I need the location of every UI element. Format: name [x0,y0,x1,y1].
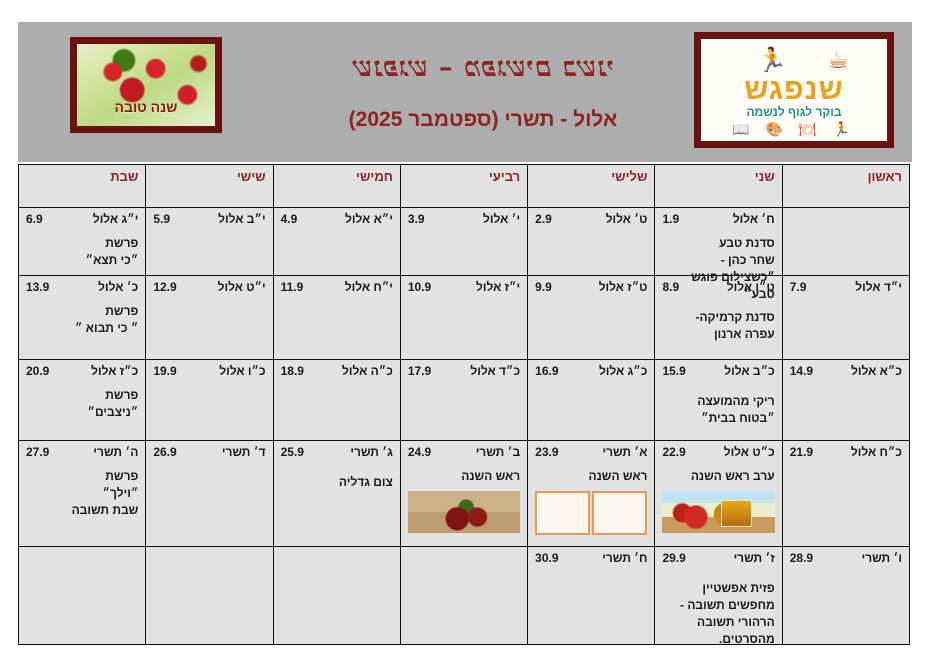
day-event-note-line: פרשת [26,387,138,404]
calendar-header-row: ראשון שני שלישי רביעי חמישי שישי שבת [19,165,910,208]
day-header-sunday: ראשון [782,165,909,208]
calendar-day-cell[interactable]: י״ז אלול10.9 [400,276,527,360]
day-date-line: כ״ז אלול20.9 [26,364,138,378]
day-date-line: י״ז אלול10.9 [408,280,520,294]
day-event-note-line: ראש השנה [408,468,520,485]
calendar-day-cell[interactable]: כ״ג אלול16.9 [528,360,655,441]
gregorian-date: 29.9 [662,551,685,565]
hebrew-date: ב׳ תשרי [476,445,520,459]
day-event-note-line: פזית אפשטיין [662,580,774,597]
day-event-note-line: סדנת טבע [662,235,774,252]
calendar-week-row: ו׳ תשרי28.9ז׳ תשרי29.9פזית אפשטייןמחפשים… [19,547,910,645]
runner-icon: 🏃 [757,49,787,73]
day-date-line: כ״ח אלול21.9 [790,445,902,459]
pomegranates-wood-image [408,491,520,533]
day-date-line: ז׳ תשרי29.9 [662,551,774,565]
shana-tova-caption: שנה טובה [77,99,215,115]
hebrew-date: י״ז אלול [476,280,520,294]
gregorian-date: 27.9 [26,445,49,459]
gregorian-date: 30.9 [535,551,558,565]
day-cell-content: כ״ה אלול18.9 [281,364,393,437]
day-event-note-line: מחפשים תשובה - [662,597,774,614]
gregorian-date: 21.9 [790,445,813,459]
dates-pomegranate-duo-image [535,491,647,535]
hebrew-date: כ״ד אלול [470,364,520,378]
day-cell-content: י״ט אלול12.9 [153,280,265,356]
day-date-line: כ״ד אלול17.9 [408,364,520,378]
hebrew-date: ח׳ אלול [733,212,775,226]
calendar-day-cell[interactable]: כ׳ אלול13.9פרשת״ כי תבוא ״ [19,276,146,360]
day-header-monday: שני [655,165,782,208]
hebrew-date: י״ט אלול [218,280,266,294]
calendar-day-cell[interactable]: ט״ו אלול8.9סדנת קרמיקה-עפרה ארנון [655,276,782,360]
day-event-note-line: עפרה ארנון [662,326,774,343]
calendar-day-cell[interactable] [19,547,146,645]
calendar-body: ח׳ אלול1.9סדנת טבעשחר כהן -״כשצילום פוגש… [19,208,910,645]
day-event-note: פרשת״ כי תבוא ״ [26,303,138,337]
day-header-wednesday: רביעי [400,165,527,208]
calendar-day-cell[interactable]: כ״ב אלול15.9ריקי מהמועצה״בטוח בבית״ [655,360,782,441]
gregorian-date: 18.9 [281,364,304,378]
day-cell-content: ט״ז אלול9.9 [535,280,647,356]
hebrew-date: ד׳ תשרי [222,445,266,459]
day-date-line: ו׳ תשרי28.9 [790,551,902,565]
calendar-day-cell[interactable]: כ״ז אלול20.9פרשת״ניצבים״ [19,360,146,441]
day-event-note-line: צום גדליה [281,474,393,491]
day-event-note-line: מהסרטים. [662,631,774,648]
day-cell-content: ח׳ תשרי30.9 [535,551,647,641]
day-header-thursday: חמישי [273,165,400,208]
gregorian-date: 15.9 [662,364,685,378]
hebrew-date: ג׳ תשרי [350,445,393,459]
logo-tagline: בוקר לגוף לנשמה [701,105,887,119]
gregorian-date: 3.9 [408,212,425,226]
day-date-line: כ״ה אלול18.9 [281,364,393,378]
day-event-note-line: פרשת [26,303,138,320]
day-cell-content: כ״ב אלול15.9ריקי מהמועצה״בטוח בבית״ [662,364,774,437]
pomegranate-image [535,491,590,535]
honey-apples-image [662,491,774,533]
day-cell-content [153,551,265,641]
gregorian-date: 1.9 [662,212,679,226]
logo-activity-icons: 🏃 🍽 🎨 📖 [701,121,887,138]
day-event-note-line: שבת תשובה [26,502,138,519]
day-cell-content: י״ז אלול10.9 [408,280,520,356]
hebrew-date: ט״ו אלול [727,280,775,294]
calendar-day-cell[interactable]: כ״ד אלול17.9 [400,360,527,441]
calendar-day-cell[interactable]: א׳ תשרי23.9ראש השנה [528,441,655,547]
gregorian-date: 13.9 [26,280,49,294]
book-icon: 📖 [732,121,755,138]
hebrew-date: ט׳ אלול [606,212,648,226]
shenifgash-logo: 🏃 ☕ שנפגש בוקר לגוף לנשמה 🏃 🍽 🎨 📖 [701,39,887,141]
calendar-day-cell[interactable] [273,547,400,645]
shana-tova-image-frame: שנה טובה [70,37,222,133]
day-cell-content: י״א אלול4.9 [281,212,393,272]
hebrew-date: כ״ג אלול [599,364,648,378]
day-cell-content: כ׳ אלול13.9פרשת״ כי תבוא ״ [26,280,138,356]
hebrew-date: ח׳ תשרי [602,551,647,565]
hebrew-date: כ״ה אלול [342,364,393,378]
day-cell-content [281,551,393,641]
day-date-line: כ״ט אלול22.9 [662,445,774,459]
gregorian-date: 9.9 [535,280,552,294]
day-event-note: פרשת״וילך״שבת תשובה [26,468,138,519]
day-date-line: ט׳ אלול2.9 [535,212,647,226]
day-date-line: ט״ז אלול9.9 [535,280,647,294]
day-cell-content: ט״ו אלול8.9סדנת קרמיקה-עפרה ארנון [662,280,774,356]
day-cell-content [408,551,520,641]
gregorian-date: 26.9 [153,445,176,459]
gregorian-date: 4.9 [281,212,298,226]
logo-wordmark: שנפגש [701,73,887,107]
calendar-week-row: י״ד אלול7.9ט״ו אלול8.9סדנת קרמיקה-עפרה א… [19,276,910,360]
calendar-day-cell[interactable]: ה׳ תשרי27.9פרשת״וילך״שבת תשובה [19,441,146,547]
calendar-day-cell[interactable]: י״ח אלול11.9 [273,276,400,360]
hebrew-date: כ״ז אלול [91,364,138,378]
day-cell-content: ג׳ תשרי25.9צום גדליה [281,445,393,543]
day-date-line: כ״ג אלול16.9 [535,364,647,378]
day-date-line: י״ט אלול12.9 [153,280,265,294]
day-date-line: ט״ו אלול8.9 [662,280,774,294]
calendar-day-cell[interactable]: כ״ה אלול18.9 [273,360,400,441]
day-date-line: ג׳ תשרי25.9 [281,445,393,459]
day-event-note-line: ערב ראש השנה [662,468,774,485]
day-event-note: פזית אפשטייןמחפשים תשובה -הרהורי תשובהמה… [662,580,774,648]
hebrew-date: י״א אלול [345,212,393,226]
day-event-note-line: פרשת [26,235,138,252]
day-cell-content: י׳ אלול3.9 [408,212,520,272]
day-date-line: י׳ אלול3.9 [408,212,520,226]
day-cell-content [26,551,138,641]
day-cell-content: ט׳ אלול2.9 [535,212,647,272]
calendar-day-cell[interactable] [146,547,273,645]
calendar-day-cell[interactable] [400,547,527,645]
calendar-week-row: כ״ח אלול21.9כ״ט אלול22.9ערב ראש השנהא׳ ת… [19,441,910,547]
calendar-page: שנה טובה שנפגש – מפגשים בשני אלול - תשרי… [0,0,949,666]
coffee-cup-icon: ☕ [827,49,849,73]
day-cell-content: י״ח אלול11.9 [281,280,393,356]
hebrew-date: ז׳ תשרי [734,551,775,565]
gregorian-date: 22.9 [662,445,685,459]
calendar-day-cell[interactable]: ב׳ תשרי24.9ראש השנה [400,441,527,547]
gregorian-date: 5.9 [153,212,170,226]
day-date-line: י״ד אלול7.9 [790,280,902,294]
logo-frame: 🏃 ☕ שנפגש בוקר לגוף לנשמה 🏃 🍽 🎨 📖 [694,32,894,148]
hebrew-date: י״ג אלול [93,212,138,226]
header-banner: שנה טובה שנפגש – מפגשים בשני אלול - תשרי… [18,22,912,162]
hebrew-date: ט״ז אלול [599,280,648,294]
day-date-line: כ׳ אלול13.9 [26,280,138,294]
monthly-calendar-table: ראשון שני שלישי רביעי חמישי שישי שבת ח׳ … [18,164,910,645]
calendar-day-cell[interactable]: ח׳ תשרי30.9 [528,547,655,645]
calendar-day-cell[interactable]: ג׳ תשרי25.9צום גדליה [273,441,400,547]
gregorian-date: 2.9 [535,212,552,226]
hebrew-date: כ״ב אלול [724,364,774,378]
calendar-day-cell[interactable]: כ״ו אלול19.9 [146,360,273,441]
gregorian-date: 19.9 [153,364,176,378]
day-event-note-line: ראש השנה [535,468,647,485]
day-date-line: ד׳ תשרי26.9 [153,445,265,459]
calendar-day-cell[interactable]: ט׳ אלול2.9 [528,208,655,276]
calendar-day-cell[interactable]: ד׳ תשרי26.9 [146,441,273,547]
gregorian-date: 14.9 [790,364,813,378]
hebrew-date: כ״א אלול [851,364,902,378]
day-date-line: ב׳ תשרי24.9 [408,445,520,459]
day-event-note: ריקי מהמועצה״בטוח בבית״ [662,393,774,427]
day-cell-content: י״ד אלול7.9 [790,280,902,356]
day-cell-content [790,212,902,272]
day-event-note: פרשת״ניצבים״ [26,387,138,421]
runner-small-icon: 🏃 [832,121,855,138]
day-date-line: א׳ תשרי23.9 [535,445,647,459]
day-date-line: ח׳ אלול1.9 [662,212,774,226]
hebrew-date: כ״ט אלול [724,445,775,459]
gregorian-date: 17.9 [408,364,431,378]
calendar-day-cell[interactable]: י״ג אלול6.9פרשת״כי תצא״ [19,208,146,276]
day-event-note-line: ״וילך״ [26,485,138,502]
day-header-tuesday: שלישי [528,165,655,208]
page-title: שנפגש – מפגשים בשני [248,52,718,83]
day-cell-content: כ״ז אלול20.9פרשת״ניצבים״ [26,364,138,437]
food-icon: 🍽 [799,121,823,138]
day-date-line: י״ג אלול6.9 [26,212,138,226]
day-event-note: ראש השנה [535,468,647,485]
day-cell-content: כ״א אלול14.9 [790,364,902,437]
day-event-note-line: ״בטוח בבית״ [662,410,774,427]
calendar-day-cell[interactable]: י״ט אלול12.9 [146,276,273,360]
day-cell-content: א׳ תשרי23.9ראש השנה [535,445,647,543]
calendar-day-cell[interactable]: י״ד אלול7.9 [782,276,909,360]
gregorian-date: 6.9 [26,212,43,226]
day-cell-content: כ״ד אלול17.9 [408,364,520,437]
day-cell-content: י״ג אלול6.9פרשת״כי תצא״ [26,212,138,272]
calendar-day-cell[interactable]: ח׳ אלול1.9סדנת טבעשחר כהן -״כשצילום פוגש… [655,208,782,276]
gregorian-date: 16.9 [535,364,558,378]
calendar-day-cell[interactable]: ו׳ תשרי28.9 [782,547,909,645]
hebrew-date: כ׳ אלול [98,280,138,294]
day-cell-content: כ״ו אלול19.9 [153,364,265,437]
day-cell-content: כ״ח אלול21.9 [790,445,902,543]
hebrew-date: כ״ח אלול [851,445,902,459]
gregorian-date: 10.9 [408,280,431,294]
day-date-line: י״ח אלול11.9 [281,280,393,294]
calendar-day-cell[interactable]: י״ב אלול5.9 [146,208,273,276]
calendar-day-cell[interactable]: י׳ אלול3.9 [400,208,527,276]
day-cell-content: כ״ג אלול16.9 [535,364,647,437]
day-header-friday: שישי [146,165,273,208]
calendar-day-cell[interactable]: י״א אלול4.9 [273,208,400,276]
hebrew-date: י״ד אלול [855,280,902,294]
day-cell-content: ו׳ תשרי28.9 [790,551,902,641]
day-event-note-line: הרהורי תשובה [662,614,774,631]
day-event-note-line: ״ניצבים״ [26,404,138,421]
day-cell-content: ח׳ אלול1.9סדנת טבעשחר כהן -״כשצילום פוגש… [662,212,774,272]
hebrew-date: י׳ אלול [483,212,520,226]
gregorian-date: 28.9 [790,551,813,565]
day-cell-content: ב׳ תשרי24.9ראש השנה [408,445,520,543]
day-cell-content: ד׳ תשרי26.9 [153,445,265,543]
hebrew-date: ה׳ תשרי [93,445,138,459]
pomegranate-shana-tova-image: שנה טובה [77,44,215,126]
day-cell-content: כ״ט אלול22.9ערב ראש השנה [662,445,774,543]
hebrew-date: כ״ו אלול [219,364,265,378]
day-event-note-line: סדנת קרמיקה- [662,309,774,326]
calendar-day-cell[interactable]: ט״ז אלול9.9 [528,276,655,360]
gregorian-date: 11.9 [281,280,304,294]
gregorian-date: 24.9 [408,445,431,459]
day-event-note: סדנת קרמיקה-עפרה ארנון [662,309,774,343]
calendar-week-row: כ״א אלול14.9כ״ב אלול15.9ריקי מהמועצה״בטו… [19,360,910,441]
hebrew-date: י״ב אלול [218,212,265,226]
day-event-note: צום גדליה [281,474,393,491]
gregorian-date: 12.9 [153,280,176,294]
day-event-note-line: ״ כי תבוא ״ [26,320,138,337]
calendar-day-cell[interactable] [782,208,909,276]
gregorian-date: 23.9 [535,445,558,459]
day-event-note-line: שחר כהן - [662,252,774,269]
gregorian-date: 25.9 [281,445,304,459]
gregorian-date: 8.9 [662,280,679,294]
day-header-saturday: שבת [19,165,146,208]
dates-bowl-image [592,491,647,535]
day-date-line: כ״ב אלול15.9 [662,364,774,378]
gregorian-date: 20.9 [26,364,49,378]
hebrew-date: י״ח אלול [345,280,393,294]
calendar-day-cell[interactable]: ז׳ תשרי29.9פזית אפשטייןמחפשים תשובה -הרה… [655,547,782,645]
hebrew-date: ו׳ תשרי [862,551,902,565]
day-event-note: ערב ראש השנה [662,468,774,485]
gregorian-date: 7.9 [790,280,807,294]
day-event-note-line: ״כי תצא״ [26,252,138,269]
calendar-week-row: ח׳ אלול1.9סדנת טבעשחר כהן -״כשצילום פוגש… [19,208,910,276]
day-date-line: י״ב אלול5.9 [153,212,265,226]
day-event-note-line: ריקי מהמועצה [662,393,774,410]
calendar-day-cell[interactable]: כ״ט אלול22.9ערב ראש השנה [655,441,782,547]
hebrew-date: א׳ תשרי [602,445,647,459]
page-subtitle: אלול - תשרי (ספטמבר 2025) [248,108,718,132]
day-event-note: פרשת״כי תצא״ [26,235,138,269]
day-date-line: כ״ו אלול19.9 [153,364,265,378]
day-date-line: ח׳ תשרי30.9 [535,551,647,565]
day-event-note: ראש השנה [408,468,520,485]
day-cell-content: ז׳ תשרי29.9פזית אפשטייןמחפשים תשובה -הרה… [662,551,774,641]
calendar-day-cell[interactable]: כ״ח אלול21.9 [782,441,909,547]
day-cell-content: י״ב אלול5.9 [153,212,265,272]
palette-icon: 🎨 [765,121,788,138]
day-date-line: ה׳ תשרי27.9 [26,445,138,459]
day-date-line: י״א אלול4.9 [281,212,393,226]
day-event-note-line: פרשת [26,468,138,485]
calendar-day-cell[interactable]: כ״א אלול14.9 [782,360,909,441]
day-date-line: כ״א אלול14.9 [790,364,902,378]
day-cell-content: ה׳ תשרי27.9פרשת״וילך״שבת תשובה [26,445,138,543]
